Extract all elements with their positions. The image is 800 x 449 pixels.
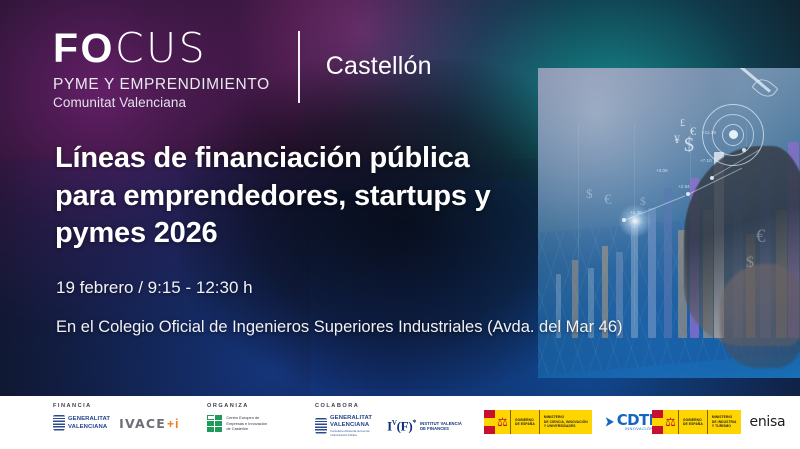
ivf-wordmark: INSTITUT VALENCIÀ DE FINANCES — [420, 421, 462, 432]
gva-wordmark: GENERALITAT VALENCIANA — [68, 416, 110, 431]
gob-ciencia-line-1: GOBIERNO — [515, 418, 534, 422]
event-banner: +1.40 +2.94 +3.06 +7.10 +11.39 £ € ¥ $ $… — [0, 0, 800, 449]
gobierno-industria-group: ⚖ GOBIERNO DE ESPAÑA MINISTERIO DE INDUS… — [652, 410, 794, 434]
currency-symbol-dollar: $ — [586, 186, 593, 202]
generalitat-valenciana-colabora-logo: GENERALITAT VALENCIANA Conselleria d'His… — [315, 415, 372, 437]
colabora-label: COLABORA — [315, 403, 462, 409]
ministerio-ciencia-text: MINISTERIO DE CIENCIA, INNOVACIÓN Y UNIV… — [539, 410, 592, 434]
ivf-line-2: DE FINANCES — [420, 426, 462, 432]
spain-flag-icon — [484, 410, 495, 434]
gob-ciencia-line-2: DE ESPAÑA — [515, 422, 535, 426]
artwork-hand-lower — [720, 264, 800, 368]
min-ciencia-line-2: DE CIENCIA, INNOVACIÓN — [544, 420, 588, 424]
financia-label: FINANCIA — [53, 403, 179, 409]
gob-industria-line-2: DE ESPAÑA — [683, 422, 703, 426]
focus-wordmark: FOCUS — [53, 28, 270, 69]
min-ciencia-line-1: MINISTERIO — [544, 415, 564, 419]
spain-coat-of-arms-icon: ⚖ — [663, 410, 678, 434]
ivace-plus-icon: + — [167, 417, 174, 431]
gobierno-espana-text: GOBIERNO DE ESPAÑA — [678, 410, 707, 434]
artwork-data-label: +1.40 — [630, 210, 642, 215]
currency-symbol-euro: € — [604, 192, 612, 209]
ivf-logo: IV(F)* INSTITUT VALENCIÀ DE FINANCES — [387, 418, 462, 434]
cdti-swoosh-icon: ➤ — [605, 414, 614, 430]
gobierno-espana-text: GOBIERNO DE ESPAÑA — [510, 410, 539, 434]
currency-symbol-dollar: $ — [684, 134, 694, 157]
artwork-bar — [664, 188, 672, 338]
gva-colabora-sub-2: i Administració Pública — [330, 434, 372, 437]
generalitat-valenciana-logo: GENERALITAT VALENCIANA — [53, 415, 110, 432]
artwork-data-point — [742, 148, 746, 152]
sponsor-footer: FINANCIA GENERALITAT VALENCIANA IVACE + … — [0, 396, 800, 449]
cdti-wordmark: CDTI — [617, 413, 654, 427]
ministerio-industria-text: MINISTERIO DE INDUSTRIA Y TURISMO — [707, 410, 741, 434]
gva-colabora-wordmark: GENERALITAT VALENCIANA Conselleria d'His… — [330, 415, 372, 437]
gob-industria-line-1: GOBIERNO — [683, 418, 702, 422]
focus-logo: FOCUS PYME Y EMPRENDIMIENTO Comunitat Va… — [53, 28, 270, 111]
focus-tagline: PYME Y EMPRENDIMIENTO — [53, 76, 270, 93]
ceei-line-3: de Castellón — [226, 426, 267, 432]
ceei-wordmark: Centro Europeo de Empresas e Innovación … — [226, 415, 267, 432]
gva-shield-icon — [53, 415, 65, 432]
min-industria-line-2: DE INDUSTRIA — [712, 420, 737, 424]
colabora-group: COLABORA GENERALITAT VALENCIANA Conselle… — [315, 403, 462, 437]
currency-symbol-euro: € — [756, 226, 766, 248]
event-venue: En el Colegio Oficial de Ingenieros Supe… — [56, 316, 623, 340]
currency-symbol-yen: ¥ — [674, 132, 680, 147]
artwork-data-point — [622, 218, 626, 222]
min-ciencia-line-3: Y UNIVERSIDADES — [544, 424, 576, 428]
spain-flag-icon — [652, 410, 663, 434]
focus-wordmark-light: CUS — [115, 24, 207, 72]
artwork-data-point — [686, 192, 690, 196]
page-title: Líneas de financiación pública para empr… — [55, 140, 535, 253]
currency-symbol-pound: £ — [680, 118, 685, 129]
gobierno-espana-ciencia-logo: ⚖ GOBIERNO DE ESPAÑA MINISTERIO DE CIENC… — [484, 410, 592, 434]
artwork-data-label: +2.94 — [678, 184, 690, 189]
ivace-logo: IVACE + i — [119, 416, 178, 431]
artwork-data-point — [710, 176, 714, 180]
gva-line-2: VALENCIANA — [68, 424, 110, 431]
gva-colabora-line-2: VALENCIANA — [330, 422, 372, 429]
city-name: Castellón — [326, 52, 432, 81]
ivace-i-mark: i — [175, 417, 178, 431]
artwork-data-label: +7.10 — [700, 158, 712, 163]
currency-symbol-dollar: $ — [746, 254, 754, 272]
organiza-label: ORGANIZA — [207, 403, 267, 409]
currency-symbol-dollar: $ — [640, 194, 646, 209]
gva-shield-icon — [315, 418, 327, 435]
enisa-logo: enisa — [741, 411, 795, 433]
min-industria-line-1: MINISTERIO — [712, 415, 732, 419]
ivace-wordmark: IVACE — [119, 416, 166, 431]
artwork-data-label: +3.06 — [656, 168, 668, 173]
artwork-data-label: +11.39 — [702, 130, 716, 135]
cdti-logo: ➤ CDTI INNOVACIÓN — [604, 413, 654, 431]
focus-wordmark-bold: FO — [53, 25, 115, 71]
gva-colabora-line-1: GENERALITAT — [330, 415, 372, 422]
min-industria-line-3: Y TURISMO — [712, 424, 731, 428]
event-datetime: 19 febrero / 9:15 - 12:30 h — [56, 278, 253, 298]
brand-header: FOCUS PYME Y EMPRENDIMIENTO Comunitat Va… — [53, 28, 432, 111]
spain-coat-of-arms-icon: ⚖ — [495, 410, 510, 434]
gva-colabora-sub-1: Conselleria d'Hisenda, Economia — [330, 430, 372, 433]
gva-line-1: GENERALITAT — [68, 416, 110, 423]
organiza-group: ORGANIZA Centro Europeo de Empresas e In… — [207, 403, 267, 432]
gobierno-espana-industria-logo: ⚖ GOBIERNO DE ESPAÑA MINISTERIO DE INDUS… — [652, 410, 741, 434]
ceei-logo: Centro Europeo de Empresas e Innovación … — [207, 415, 267, 432]
ceei-mark-icon — [207, 415, 222, 432]
target-center-dot — [729, 130, 738, 139]
ivf-mark-icon: IV(F)* — [387, 418, 416, 434]
gobierno-ciencia-group: ⚖ GOBIERNO DE ESPAÑA MINISTERIO DE CIENC… — [484, 410, 654, 434]
financia-group: FINANCIA GENERALITAT VALENCIANA IVACE + … — [53, 403, 179, 432]
artwork-bar — [631, 226, 638, 338]
header-divider — [298, 31, 300, 103]
focus-region: Comunitat Valenciana — [53, 95, 270, 111]
